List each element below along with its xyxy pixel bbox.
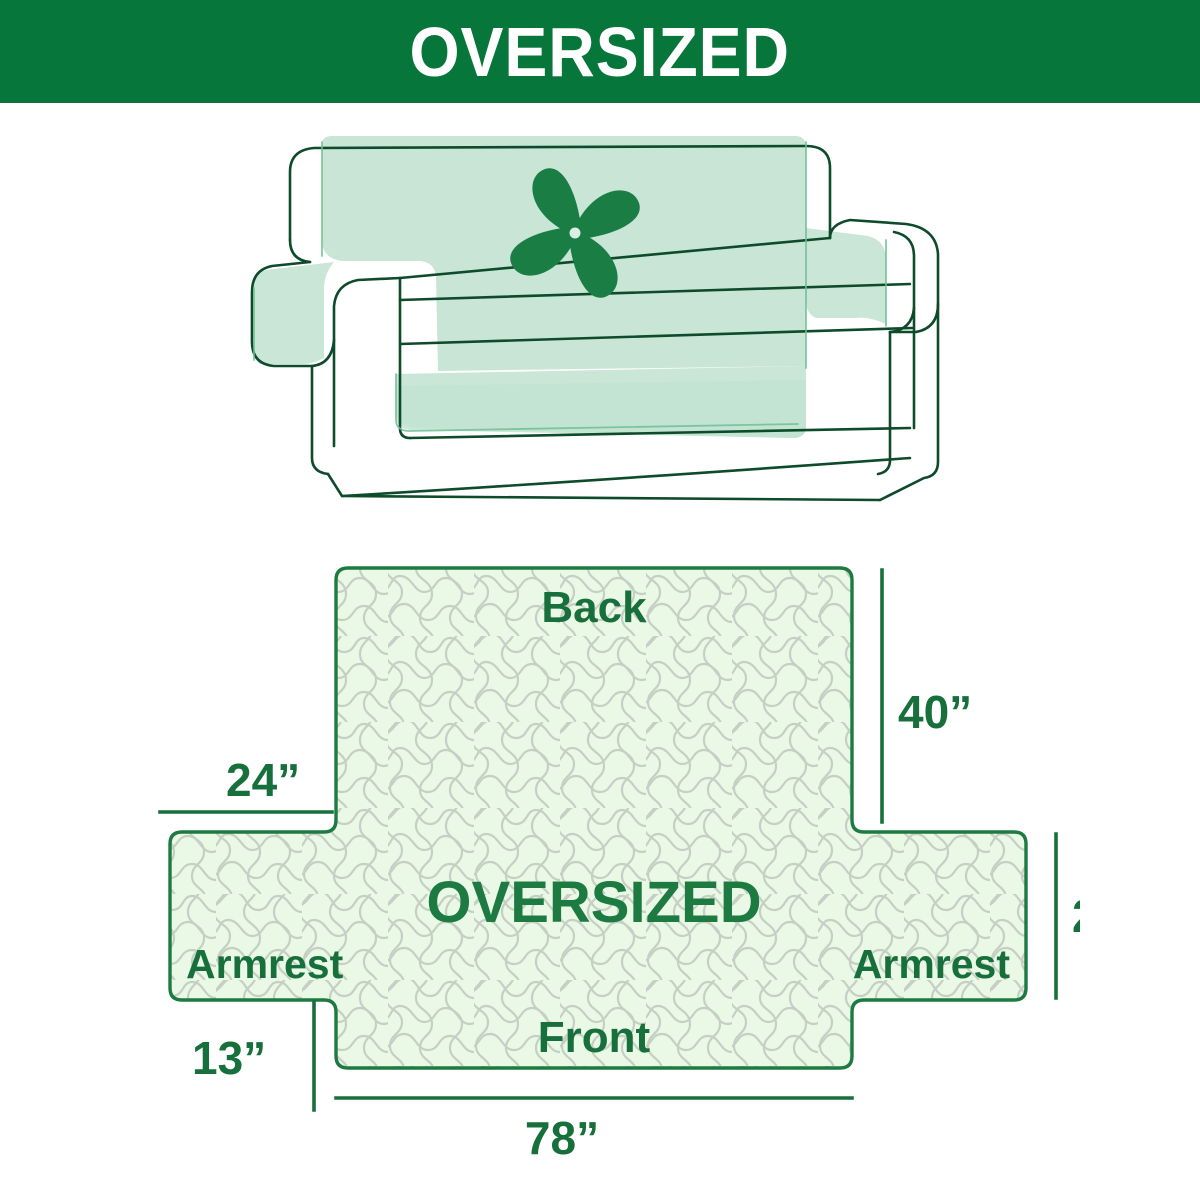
dimension-label-front-width: 78” xyxy=(525,1112,599,1164)
dimension-label-seat-depth: 23” xyxy=(1072,890,1080,942)
panel-label-armrest-right: Armrest xyxy=(853,941,1011,987)
dimension-label-back-height: 40” xyxy=(898,686,972,738)
dimension-label-back-offset: 24” xyxy=(226,754,300,806)
slipcover-dimension-diagram: 40” 24” 23” 13” 78” Back Front Armrest A… xyxy=(130,550,1080,1190)
panel-label-back: Back xyxy=(541,583,647,632)
sofa-illustration xyxy=(250,128,970,508)
panel-label-front: Front xyxy=(538,1013,651,1062)
sofa-illustration-area xyxy=(0,103,1200,540)
slipcover-shape xyxy=(170,568,1026,1068)
diagram-center-label: OVERSIZED xyxy=(426,870,761,935)
page-title: OVERSIZED xyxy=(410,17,790,87)
header-banner: OVERSIZED xyxy=(0,0,1200,103)
dimension-diagram-area: 40” 24” 23” 13” 78” Back Front Armrest A… xyxy=(0,540,1200,1200)
dimension-label-front-offset: 13” xyxy=(192,1032,266,1084)
panel-label-armrest-left: Armrest xyxy=(186,941,344,987)
